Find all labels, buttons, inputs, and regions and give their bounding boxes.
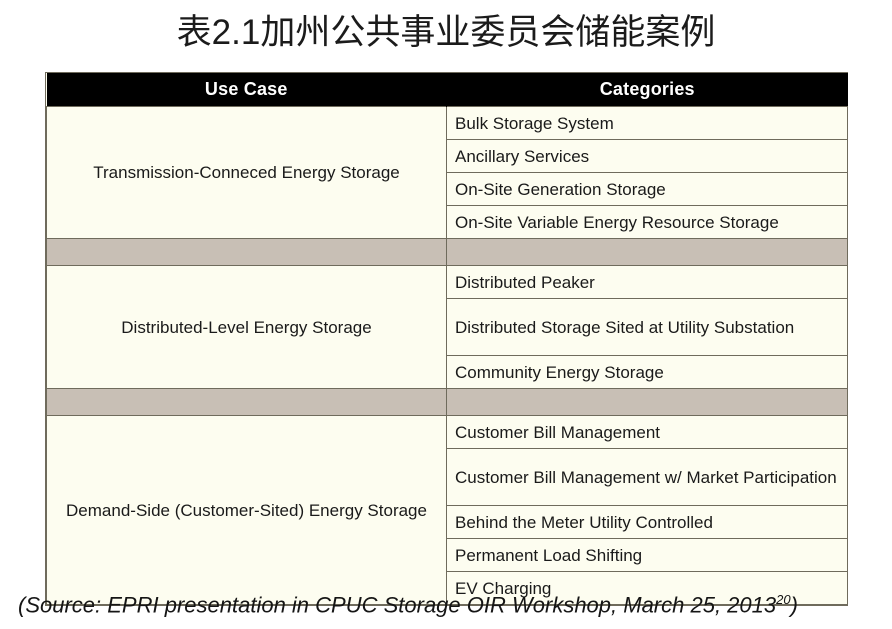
category-cell: Behind the Meter Utility Controlled xyxy=(447,506,848,539)
spacer-cell-left xyxy=(47,239,447,266)
category-cell: Community Energy Storage xyxy=(447,356,848,389)
category-cell: Bulk Storage System xyxy=(447,107,848,140)
column-header-categories: Categories xyxy=(447,73,848,107)
section-spacer-row xyxy=(47,389,848,416)
column-header-use-case: Use Case xyxy=(47,73,447,107)
table-row: Distributed-Level Energy Storage Distrib… xyxy=(47,266,848,299)
category-cell: Customer Bill Management w/ Market Parti… xyxy=(447,449,848,506)
category-cell: Distributed Storage Sited at Utility Sub… xyxy=(447,299,848,356)
category-cell: Ancillary Services xyxy=(447,140,848,173)
footnote-marker: 20 xyxy=(776,592,790,607)
table-header-row: Use Case Categories xyxy=(47,73,848,107)
source-caption: (Source: EPRI presentation in CPUC Stora… xyxy=(18,592,878,618)
table-row: Transmission-Conneced Energy Storage Bul… xyxy=(47,107,848,140)
table-body: Transmission-Conneced Energy Storage Bul… xyxy=(47,107,848,605)
caption-text: (Source: EPRI presentation in CPUC Stora… xyxy=(18,592,776,617)
table-header: Use Case Categories xyxy=(47,73,848,107)
use-case-cell-transmission: Transmission-Conneced Energy Storage xyxy=(47,107,447,239)
use-case-cell-demand-side: Demand-Side (Customer-Sited) Energy Stor… xyxy=(47,416,447,605)
cpuc-storage-use-case-table: Use Case Categories Transmission-Connece… xyxy=(45,72,848,606)
page-title: 表2.1加州公共事业委员会储能案例 xyxy=(0,8,892,58)
caption-closing: ) xyxy=(791,592,798,617)
category-cell: Distributed Peaker xyxy=(447,266,848,299)
use-case-cell-distributed: Distributed-Level Energy Storage xyxy=(47,266,447,389)
table-row: Demand-Side (Customer-Sited) Energy Stor… xyxy=(47,416,848,449)
document-page: 表2.1加州公共事业委员会储能案例 Use Case Categories Tr… xyxy=(0,0,892,629)
category-cell: On-Site Variable Energy Resource Storage xyxy=(447,206,848,239)
spacer-cell-left xyxy=(47,389,447,416)
category-cell: On-Site Generation Storage xyxy=(447,173,848,206)
category-cell: Permanent Load Shifting xyxy=(447,539,848,572)
spacer-cell-right xyxy=(447,239,848,266)
category-cell: Customer Bill Management xyxy=(447,416,848,449)
spacer-cell-right xyxy=(447,389,848,416)
table: Use Case Categories Transmission-Connece… xyxy=(46,73,848,605)
section-spacer-row xyxy=(47,239,848,266)
